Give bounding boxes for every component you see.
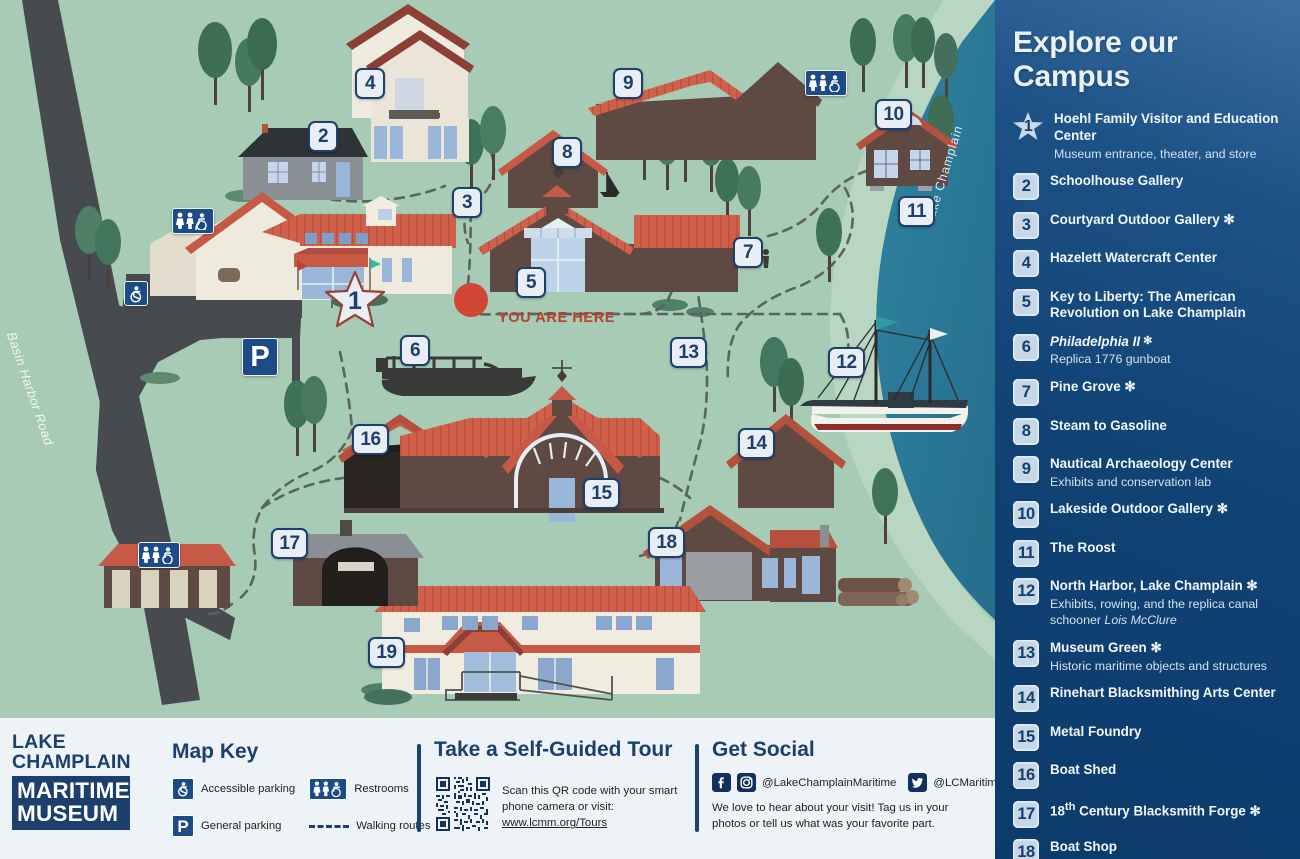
legend-item-title: Philadelphia II ✻ [1050, 334, 1171, 351]
legend-item-title: Courtyard Outdoor Gallery ✻ [1050, 212, 1235, 229]
instagram-icon[interactable] [737, 773, 756, 792]
legend-item-title: Museum Green ✻ [1050, 640, 1267, 657]
logo-line-3: MARITIME [17, 779, 125, 802]
legend-item-title: Hazelett Watercraft Center [1050, 250, 1217, 267]
legend-number-badge: 13 [1013, 640, 1039, 667]
legend-item-text: Rinehart Blacksmithing Arts Center [1050, 684, 1276, 702]
legend-item-title: Boat Shed [1050, 762, 1116, 779]
legend-item-text: Steam to Gasoline [1050, 417, 1167, 435]
legend-number-badge: 1 [1013, 111, 1043, 141]
legend-item-4[interactable]: 4Hazelett Watercraft Center [1013, 249, 1286, 277]
legend-list[interactable]: 1Hoehl Family Visitor and Education Cent… [1013, 110, 1286, 859]
legend-item-text: 18th Century Blacksmith Forge ✻ [1050, 800, 1261, 820]
legend-item-title: Hoehl Family Visitor and Education Cente… [1054, 111, 1286, 145]
social-handle-twitter: @LCMaritime [933, 777, 995, 789]
bottom-info-band: LAKE CHAMPLAIN MARITIME MUSEUM Map Key [0, 718, 995, 859]
map-key-title: Map Key [172, 740, 402, 764]
restroom-sign-nautical-center [805, 70, 847, 96]
legend-item-8[interactable]: 8Steam to Gasoline [1013, 417, 1286, 445]
legend-item-title: Metal Foundry [1050, 724, 1142, 741]
legend-item-text: Museum Green ✻Historic maritime objects … [1050, 639, 1267, 674]
legend-item-text: Philadelphia II ✻Replica 1776 gunboat [1050, 333, 1171, 368]
restroom-sign-lower-left [138, 542, 180, 568]
tour-link[interactable]: www.lcmm.org/Tours [502, 817, 607, 829]
map-badge-10[interactable]: 10 [875, 99, 912, 130]
restrooms-icon [309, 778, 347, 800]
legend-item-text: Courtyard Outdoor Gallery ✻ [1050, 211, 1235, 229]
logo-line-2: CHAMPLAIN [12, 753, 130, 773]
legend-number-badge: 15 [1013, 724, 1039, 751]
social-title: Get Social [712, 738, 977, 762]
legend-item-text: Lakeside Outdoor Gallery ✻ [1050, 500, 1228, 518]
legend-item-title: North Harbor, Lake Champlain ✻ [1050, 578, 1286, 595]
legend-number-badge: 6 [1013, 334, 1039, 361]
legend-item-text: The Roost [1050, 539, 1115, 557]
divider-left [417, 744, 421, 832]
legend-item-text: Hazelett Watercraft Center [1050, 249, 1217, 267]
legend-item-9[interactable]: 9Nautical Archaeology CenterExhibits and… [1013, 455, 1286, 490]
social-description: We love to hear about your visit! Tag us… [712, 800, 977, 832]
legend-item-15[interactable]: 15Metal Foundry [1013, 723, 1286, 751]
legend-item-text: Nautical Archaeology CenterExhibits and … [1050, 455, 1233, 490]
map-badge-14[interactable]: 14 [738, 428, 775, 459]
map-badge-19[interactable]: 19 [368, 637, 405, 668]
legend-item-14[interactable]: 14Rinehart Blacksmithing Arts Center [1013, 684, 1286, 712]
parking-icon: P [172, 815, 194, 837]
key-general-parking-label: General parking [201, 820, 281, 832]
social-handle-fb-ig: @LakeChamplainMaritime [762, 777, 896, 789]
legend-item-text: Key to Liberty: The American Revolution … [1050, 288, 1286, 323]
legend-number-badge: 10 [1013, 501, 1039, 528]
legend-item-title: Lakeside Outdoor Gallery ✻ [1050, 501, 1228, 518]
map-badge-12[interactable]: 12 [828, 347, 865, 378]
accessible-parking-icon [172, 778, 194, 800]
legend-item-text: Boat Shed [1050, 761, 1116, 779]
map-badge-13[interactable]: 13 [670, 337, 707, 368]
map-badge-17[interactable]: 17 [271, 528, 308, 559]
parking-letter: P [250, 343, 269, 372]
map-badge-9[interactable]: 9 [613, 68, 643, 99]
legend-item-title: Pine Grove ✻ [1050, 379, 1136, 396]
key-accessible-parking-label: Accessible parking [201, 783, 295, 795]
self-guided-tour-section: Take a Self-Guided Tour [434, 738, 689, 833]
legend-item-title: Boat Shop [1050, 839, 1117, 856]
legend-item-2[interactable]: 2Schoolhouse Gallery [1013, 172, 1286, 200]
key-walking-routes: Walking routes [309, 820, 430, 832]
legend-item-6[interactable]: 6Philadelphia II ✻Replica 1776 gunboat [1013, 333, 1286, 368]
legend-item-subtitle: Exhibits, rowing, and the replica canal … [1050, 596, 1286, 628]
map-badge-7[interactable]: 7 [733, 237, 763, 268]
legend-item-3[interactable]: 3Courtyard Outdoor Gallery ✻ [1013, 211, 1286, 239]
legend-item-title: Key to Liberty: The American Revolution … [1050, 289, 1286, 323]
restroom-icon [808, 74, 844, 92]
tour-title: Take a Self-Guided Tour [434, 738, 689, 762]
general-parking-sign: P [242, 338, 278, 376]
map-badge-15[interactable]: 15 [583, 478, 620, 509]
legend-item-subtitle: Replica 1776 gunboat [1050, 351, 1171, 367]
map-badge-2[interactable]: 2 [308, 121, 338, 152]
tour-instruction: Scan this QR code with your smart phone … [502, 775, 689, 832]
legend-item-subtitle: Museum entrance, theater, and store [1054, 146, 1286, 162]
legend-item-title: Steam to Gasoline [1050, 418, 1167, 435]
logo-line-1: LAKE [12, 733, 130, 753]
legend-number-badge: 16 [1013, 762, 1039, 789]
divider-right [695, 744, 699, 832]
key-accessible-parking: Accessible parking [172, 778, 295, 800]
legend-panel: Explore our Campus 1Hoehl Family Visitor… [995, 0, 1300, 859]
accessible-parking-sign [124, 281, 148, 306]
map-badge-5[interactable]: 5 [516, 267, 546, 298]
museum-logo: LAKE CHAMPLAIN MARITIME MUSEUM [12, 733, 130, 830]
facebook-icon[interactable] [712, 773, 731, 792]
map-badge-16[interactable]: 16 [352, 424, 389, 455]
legend-item-7[interactable]: 7Pine Grove ✻ [1013, 378, 1286, 406]
legend-item-title: Rinehart Blacksmithing Arts Center [1050, 685, 1276, 702]
legend-number-badge: 2 [1013, 173, 1039, 200]
map-badge-number: 1 [348, 287, 362, 316]
legend-number-badge: 17 [1013, 801, 1039, 828]
twitter-icon[interactable] [908, 773, 927, 792]
legend-number-badge: 8 [1013, 418, 1039, 445]
get-social-section: Get Social @LakeChamplainMaritime [712, 738, 977, 832]
restroom-icon [175, 212, 211, 230]
legend-item-title: Schoolhouse Gallery [1050, 173, 1183, 190]
legend-item-5[interactable]: 5Key to Liberty: The American Revolution… [1013, 288, 1286, 323]
legend-item-text: Metal Foundry [1050, 723, 1142, 741]
restroom-icon [141, 546, 177, 564]
map-key-section: Map Key Accessible parking [172, 740, 402, 837]
campus-map-sign: YOU ARE HERE Basin Harbor Road Lake Cham… [0, 0, 1300, 859]
logo-line-4: MUSEUM [17, 802, 125, 825]
legend-item-17[interactable]: 1718th Century Blacksmith Forge ✻ [1013, 800, 1286, 828]
qr-code[interactable] [434, 775, 492, 833]
legend-number-badge: 4 [1013, 250, 1039, 277]
legend-item-16[interactable]: 16Boat Shed [1013, 761, 1286, 789]
key-general-parking: P General parking [172, 815, 295, 837]
legend-item-title: 18th Century Blacksmith Forge ✻ [1050, 801, 1261, 820]
legend-item-1[interactable]: 1Hoehl Family Visitor and Education Cent… [1013, 110, 1286, 162]
restroom-sign-visitor-center [172, 208, 214, 234]
legend-item-text: Schoolhouse Gallery [1050, 172, 1183, 190]
legend-number-badge: 11 [1013, 540, 1039, 567]
legend-item-text: Hoehl Family Visitor and Education Cente… [1054, 110, 1286, 162]
legend-item-12[interactable]: 12North Harbor, Lake Champlain ✻Exhibits… [1013, 577, 1286, 628]
legend-item-11[interactable]: 11The Roost [1013, 539, 1286, 567]
map-badge-11[interactable]: 11 [898, 196, 935, 227]
legend-item-10[interactable]: 10Lakeside Outdoor Gallery ✻ [1013, 500, 1286, 528]
legend-number-badge: 5 [1013, 289, 1039, 316]
tour-text-pre: Scan this QR code with your smart phone … [502, 785, 677, 813]
legend-number-badge: 9 [1013, 456, 1039, 483]
map-badge-4[interactable]: 4 [355, 68, 385, 99]
wheelchair-icon [128, 285, 145, 303]
legend-number-badge: 14 [1013, 685, 1039, 712]
legend-item-title: Nautical Archaeology Center [1050, 456, 1233, 473]
dashed-line-icon [309, 825, 349, 828]
legend-item-text: Boat Shop [1050, 838, 1117, 856]
key-restrooms: Restrooms [309, 778, 430, 800]
legend-number-badge: 12 [1013, 578, 1039, 605]
you-are-here-label: YOU ARE HERE [498, 310, 615, 326]
legend-item-13[interactable]: 13Museum Green ✻Historic maritime object… [1013, 639, 1286, 674]
legend-item-text: North Harbor, Lake Champlain ✻Exhibits, … [1050, 577, 1286, 628]
map-badge-6[interactable]: 6 [400, 335, 430, 366]
legend-title: Explore our Campus [1013, 26, 1286, 94]
map-badge-18[interactable]: 18 [648, 527, 685, 558]
legend-item-text: Pine Grove ✻ [1050, 378, 1136, 396]
legend-item-subtitle: Historic maritime objects and structures [1050, 658, 1267, 674]
legend-item-subtitle: Exhibits and conservation lab [1050, 474, 1233, 490]
map-badge-1[interactable]: 1 [324, 270, 386, 329]
legend-number-badge: 3 [1013, 212, 1039, 239]
key-restrooms-label: Restrooms [354, 783, 409, 795]
legend-item-18[interactable]: 18Boat Shop [1013, 838, 1286, 859]
map-badge-8[interactable]: 8 [552, 137, 582, 168]
legend-number-badge: 18 [1013, 839, 1039, 859]
legend-item-title: The Roost [1050, 540, 1115, 557]
legend-number-badge: 7 [1013, 379, 1039, 406]
map-badge-3[interactable]: 3 [452, 187, 482, 218]
